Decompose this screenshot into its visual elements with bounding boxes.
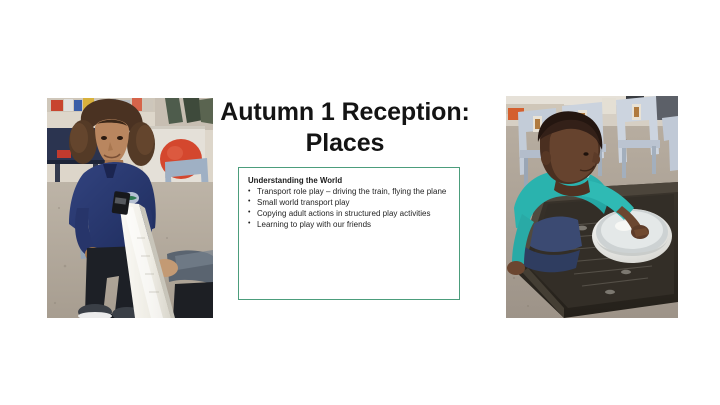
photo-left-graphic: [47, 98, 213, 318]
list-item: Small world transport play: [246, 198, 451, 209]
slide-canvas: Autumn 1 Reception: Places Understanding…: [0, 0, 720, 405]
photo-child-at-water-tray: [506, 96, 678, 318]
title-line-2: Places: [198, 128, 492, 159]
page-title: Autumn 1 Reception: Places: [198, 97, 492, 159]
title-line-1: Autumn 1 Reception:: [198, 97, 492, 128]
list-item: Copying adult actions in structured play…: [246, 209, 451, 220]
understanding-the-world-box: Understanding the World Transport role p…: [238, 167, 460, 300]
box-heading: Understanding the World: [248, 175, 451, 186]
list-item: Transport role play – driving the train,…: [246, 187, 451, 198]
photo-right-graphic: [506, 96, 678, 318]
bullet-list: Transport role play – driving the train,…: [246, 187, 451, 231]
photo-child-with-ramp: [47, 98, 213, 318]
list-item: Learning to play with our friends: [246, 220, 451, 231]
